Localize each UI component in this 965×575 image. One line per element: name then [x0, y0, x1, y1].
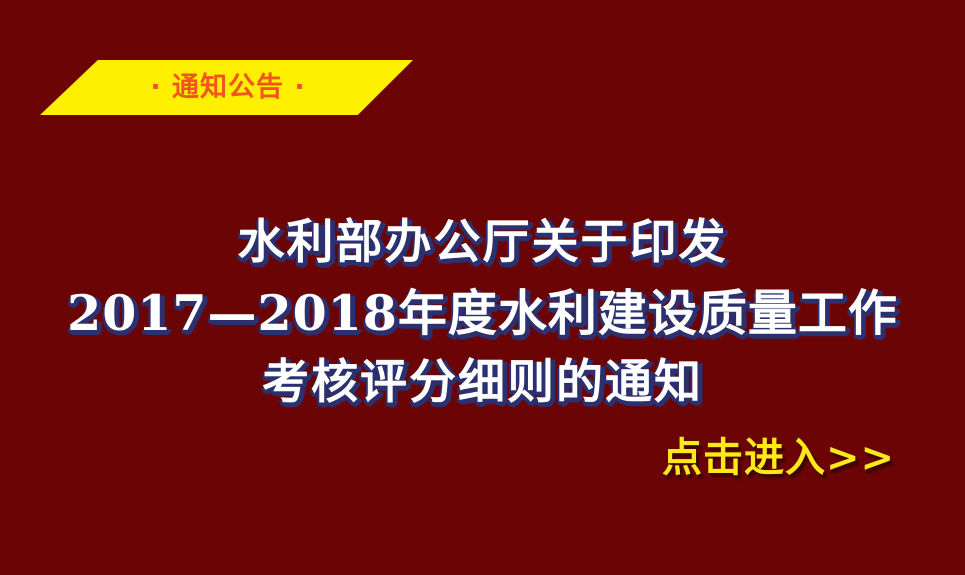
notice-banner: · 通知公告 ·: [40, 60, 413, 115]
title-line-1: 水利部办公厅关于印发: [0, 208, 965, 278]
enter-link[interactable]: 点击进入>>: [662, 432, 895, 484]
title-line-3: 考核评分细则的通知: [0, 348, 965, 418]
notice-poster: · 通知公告 · 水利部办公厅关于印发 2017—2018年度水利建设质量工作 …: [0, 0, 965, 575]
title-line-2: 2017—2018年度水利建设质量工作: [0, 278, 965, 348]
banner-label: · 通知公告 ·: [40, 60, 413, 115]
page-title: 水利部办公厅关于印发 2017—2018年度水利建设质量工作 考核评分细则的通知: [0, 208, 965, 418]
